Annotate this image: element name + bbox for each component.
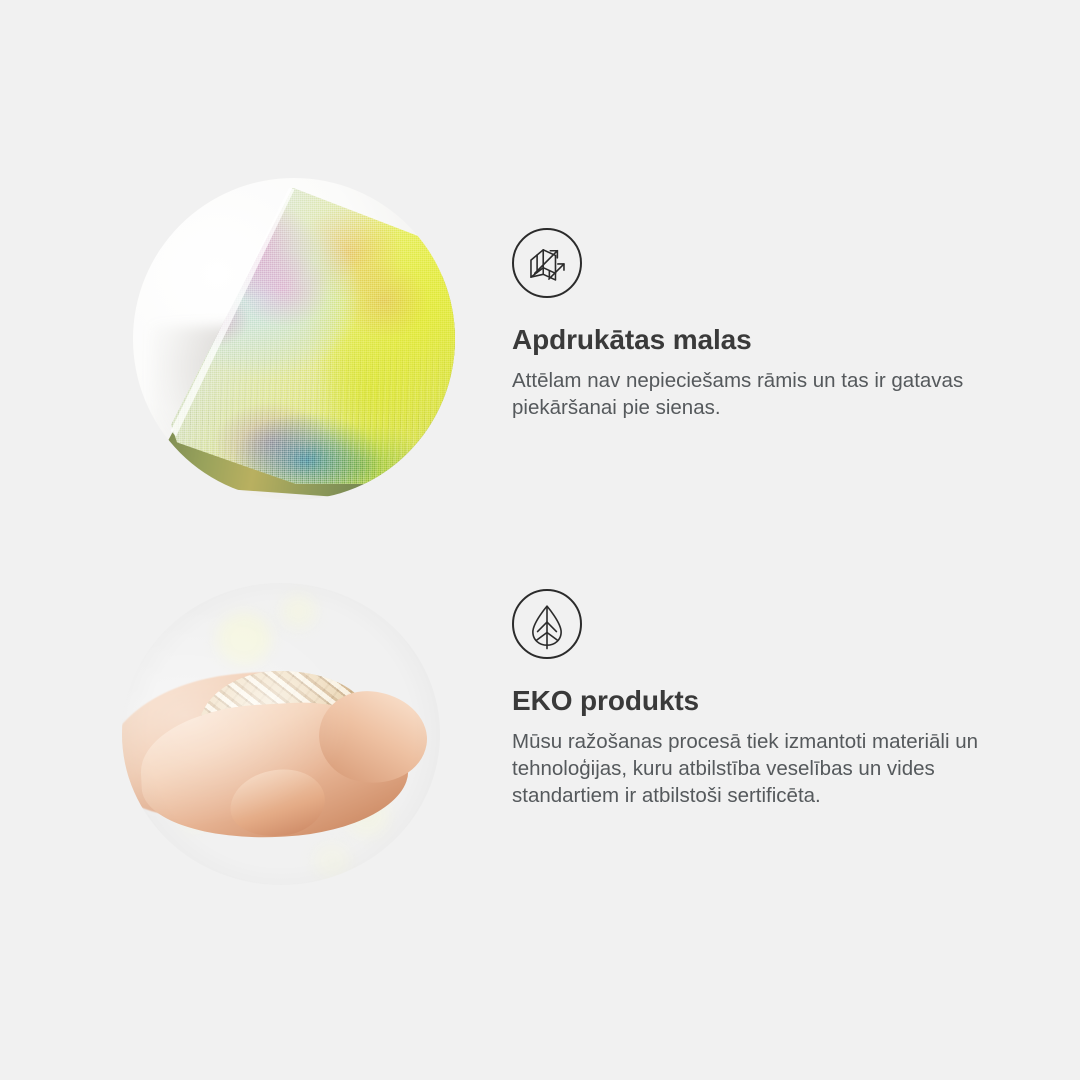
photo-light-bloom bbox=[122, 583, 440, 885]
feature-description-printed-edges: Attēlam nav nepieciešams rāmis un tas ir… bbox=[512, 367, 1002, 421]
canvas-corner-photo bbox=[133, 178, 455, 500]
feature-text-printed-edges: Apdrukātas malas Attēlam nav nepieciešam… bbox=[512, 228, 1012, 421]
leaf-icon bbox=[512, 589, 582, 659]
feature-title-printed-edges: Apdrukātas malas bbox=[512, 324, 1012, 356]
canvas-corner-image bbox=[133, 178, 455, 500]
feature-description-eco-product: Mūsu ražošanas procesā tiek izmantoti ma… bbox=[512, 728, 1007, 809]
printed-canvas-edges-icon bbox=[512, 228, 582, 298]
feature-text-eco-product: EKO produkts Mūsu ražošanas procesā tiek… bbox=[512, 589, 1012, 809]
feature-title-eco-product: EKO produkts bbox=[512, 685, 1012, 717]
wood-chips-in-hands-photo bbox=[122, 583, 440, 885]
feature-highlights-page: Apdrukātas malas Attēlam nav nepieciešam… bbox=[0, 0, 1080, 1080]
wood-chips-image bbox=[122, 583, 440, 885]
